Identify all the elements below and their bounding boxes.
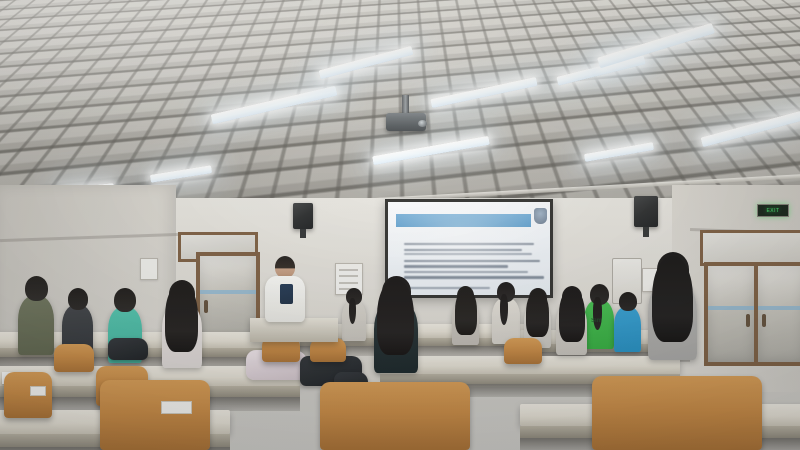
student-blue-tee-head [619, 292, 637, 311]
student-blue-tee-torso [614, 307, 641, 352]
door-left-glass [200, 256, 256, 344]
chair-back-a[interactable] [54, 344, 94, 372]
lecture-hall-photo: EXIT Sim [0, 0, 800, 450]
student-back-row-c-ponytail [500, 294, 508, 325]
wall-speaker-right [634, 196, 658, 227]
presenter-head [275, 256, 295, 278]
student-grey-tee-long-hair [652, 256, 693, 342]
student-left-long-long-hair [559, 288, 585, 342]
chair-front-label[interactable] [100, 380, 210, 450]
student-green-tee-shirt-print: Sim [591, 318, 602, 324]
student-olive-shirt-torso [18, 296, 54, 355]
wall-speaker-left-bracket [300, 229, 306, 238]
projector-lens-icon [418, 120, 427, 127]
exit-sign: EXIT [757, 204, 789, 217]
student-olive-shirt-head [25, 276, 48, 301]
student-back-row-b-long-hair [455, 288, 477, 335]
wall-speaker-right-bracket [643, 227, 649, 237]
projection-screen-surface [388, 202, 550, 295]
chair-front-left-asset-sticker [30, 386, 46, 396]
door-right-2-handle[interactable] [762, 314, 766, 327]
wall-notice-left [140, 258, 158, 280]
university-crest-icon [534, 208, 547, 224]
chair-front-left[interactable] [4, 372, 52, 418]
slide-line-extra-2 [404, 271, 528, 273]
wall-speaker-left [293, 203, 313, 229]
student-striped-shirt-head [68, 288, 88, 310]
slide-line-4 [404, 265, 508, 267]
door-right-1[interactable] [704, 262, 758, 366]
door-right-2[interactable] [754, 262, 800, 366]
chair-back-d[interactable] [504, 338, 542, 364]
exit-sign-label: EXIT [766, 208, 779, 214]
bag-left-desk [108, 338, 148, 360]
slide-line-extra-3 [404, 287, 490, 289]
chair-right-big[interactable] [592, 376, 762, 450]
slide-line-2 [404, 249, 522, 251]
chair-front-label-asset-sticker [161, 401, 192, 414]
slide-line-extra-1 [404, 253, 532, 255]
door-left-band [200, 290, 256, 294]
presenter-shirt-graphic [280, 284, 293, 304]
door-right-1-band [708, 306, 754, 310]
door-right-1-handle[interactable] [746, 314, 750, 327]
slide-header-band [396, 214, 530, 227]
slide-line-3 [404, 260, 540, 262]
projector-mount-pole [402, 95, 409, 115]
door-right-transom [700, 230, 800, 266]
projection-screen [385, 199, 553, 298]
student-back-row-a-ponytail [349, 298, 356, 324]
student-green-tee-ponytail [593, 297, 602, 330]
door-left-handle[interactable] [204, 300, 208, 313]
slide-line-1 [404, 243, 534, 245]
student-striped-right-long-hair [526, 290, 549, 337]
slide-line-5 [404, 276, 544, 278]
student-dark-teal-top-long-hair [377, 279, 414, 355]
door-right-2-band [758, 306, 800, 310]
chair-center-big[interactable] [320, 382, 470, 450]
student-teal-shirt-head [114, 288, 136, 312]
student-white-lace-long-hair [165, 283, 198, 352]
